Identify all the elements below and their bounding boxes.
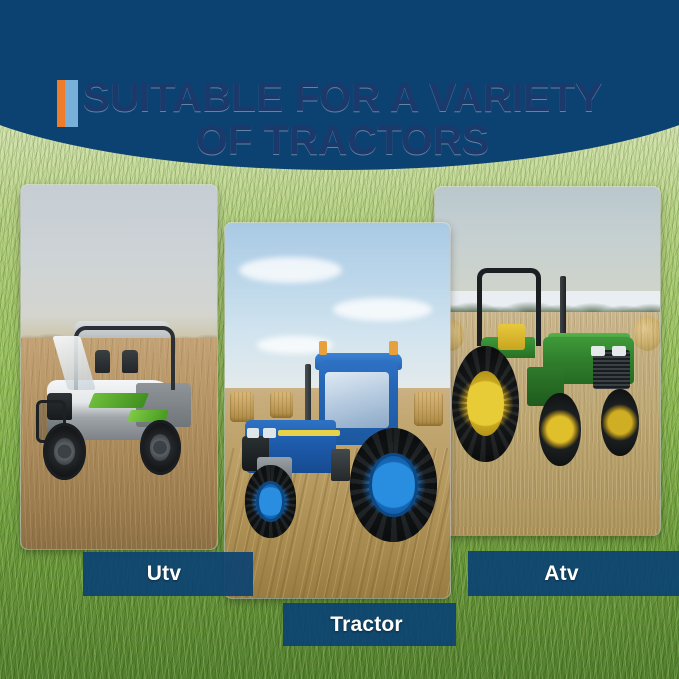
photo-card-tractor[interactable] [225,223,450,598]
cloud-icon [333,298,432,321]
caption-atv: Atv [468,551,679,596]
tractor-cab-glass [325,372,389,429]
cloud-icon [239,257,343,283]
caption-utv: Utv [83,552,253,596]
tractor-photo [225,223,450,598]
beacon-light-icon [319,341,327,355]
accent-bar-orange-icon [57,80,65,127]
utv-wheel [140,420,181,475]
accent-bars [57,80,79,127]
tractor-front-wheel [601,389,638,456]
photo-card-utv[interactable] [21,185,217,549]
headlight-icon [263,428,275,438]
utv-wheel [43,423,86,480]
tractor-rear-wheel [452,346,518,463]
caption-tractor: Tractor [283,603,456,646]
utv-vehicle [33,316,205,483]
utv-green-graphic [88,393,149,408]
headlight-icon [591,346,605,357]
utv-seat [122,350,138,373]
headlight-icon [612,346,626,357]
utv-seat [95,350,111,373]
headlight-icon [247,428,259,438]
caption-tractor-label: Tractor [330,613,403,637]
tractor-front-wheel [245,465,297,538]
headline-line-1: SUITABLE FOR A VARIETY [83,76,603,119]
blue-tractor [236,339,443,542]
product-banner: SUITABLE FOR A VARIETY OF TRACTORS [0,0,679,679]
tractor-cab-step [331,449,350,481]
headline-line-2: OF TRACTORS [83,119,603,162]
page-title: SUITABLE FOR A VARIETY OF TRACTORS [77,76,603,162]
green-tractor [444,264,651,480]
tractor-hood-stripe [278,430,340,436]
utv-photo [21,185,217,549]
accent-bar-blue-icon [65,80,78,127]
caption-utv-label: Utv [147,562,181,586]
headline-block: SUITABLE FOR A VARIETY OF TRACTORS [0,76,679,162]
tractor-front-wheel [539,393,580,466]
tractor-rear-wheel [350,428,437,541]
tractor-seat [498,324,525,350]
atv-photo [435,187,660,535]
tractor-exhaust-stack [305,364,311,429]
beacon-light-icon [389,341,397,355]
photo-card-atv[interactable] [435,187,660,535]
caption-atv-label: Atv [544,562,578,586]
